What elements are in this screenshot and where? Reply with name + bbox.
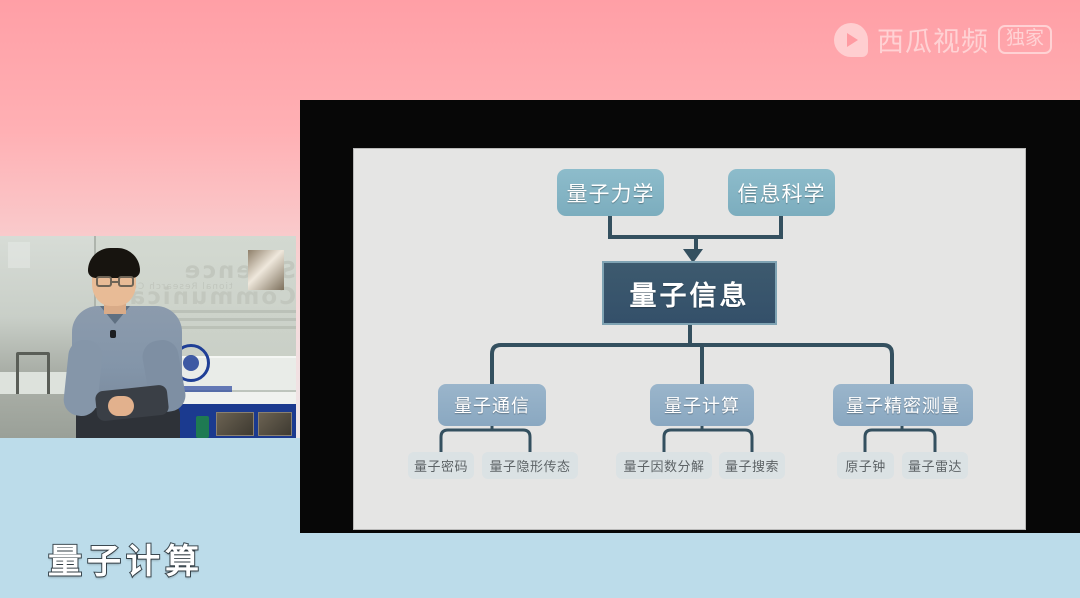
presenter-hand xyxy=(108,396,134,416)
xigua-play-logo-icon xyxy=(834,23,868,57)
channel-watermark: 西瓜视频 独家 xyxy=(834,20,1052,59)
diagram-leaf-atomic-clock[interactable]: 原子钟 xyxy=(837,452,894,479)
diagram-leaf-quantum-teleportation[interactable]: 量子隐形传态 xyxy=(482,452,578,479)
diagram-node-quantum-computing[interactable]: 量子计算 xyxy=(650,384,754,426)
presenter-glasses xyxy=(118,276,134,287)
diagram-node-quantum-information-root[interactable]: 量子信息 xyxy=(602,261,777,325)
diagram-node-quantum-communication[interactable]: 量子通信 xyxy=(438,384,546,426)
diagram-leaf-quantum-cryptography[interactable]: 量子密码 xyxy=(408,452,474,479)
lab-equipment xyxy=(216,412,254,436)
diagram-node-information-science[interactable]: 信息科学 xyxy=(728,169,835,216)
wall-sign-emblem xyxy=(248,250,284,290)
diagram-node-quantum-precision-measurement[interactable]: 量子精密测量 xyxy=(833,384,973,426)
presenter-glasses-bridge xyxy=(112,281,118,283)
lapel-microphone-icon xyxy=(110,330,116,338)
presentation-slide-frame: 量子力学 信息科学 量子信息 量子通信 量子计算 量子精密测量 量子密码 量子隐… xyxy=(300,100,1080,533)
presenter-hair xyxy=(88,248,140,278)
speaker-video-feed: Science Communica tional Research Center xyxy=(0,236,296,438)
quantum-information-tree-diagram: 量子力学 信息科学 量子信息 量子通信 量子计算 量子精密测量 量子密码 量子隐… xyxy=(354,149,1025,529)
office-chair xyxy=(16,352,50,398)
watermark-exclusive-badge: 独家 xyxy=(998,25,1052,54)
water-bottle xyxy=(196,416,209,438)
glass-pane xyxy=(8,242,30,268)
presenter-glasses xyxy=(96,276,112,287)
diagram-leaf-quantum-search[interactable]: 量子搜索 xyxy=(719,452,785,479)
video-caption-title: 量子计算 xyxy=(48,534,204,583)
diagram-leaf-quantum-radar[interactable]: 量子雷达 xyxy=(902,452,968,479)
diagram-node-quantum-mechanics[interactable]: 量子力学 xyxy=(557,169,664,216)
diagram-leaf-quantum-factoring[interactable]: 量子因数分解 xyxy=(616,452,712,479)
presentation-slide-canvas: 量子力学 信息科学 量子信息 量子通信 量子计算 量子精密测量 量子密码 量子隐… xyxy=(353,148,1026,530)
video-stage: 西瓜视频 独家 Science Communica tional Researc… xyxy=(0,0,1080,598)
lab-equipment xyxy=(258,412,292,436)
watermark-brand-label: 西瓜视频 xyxy=(877,20,989,59)
